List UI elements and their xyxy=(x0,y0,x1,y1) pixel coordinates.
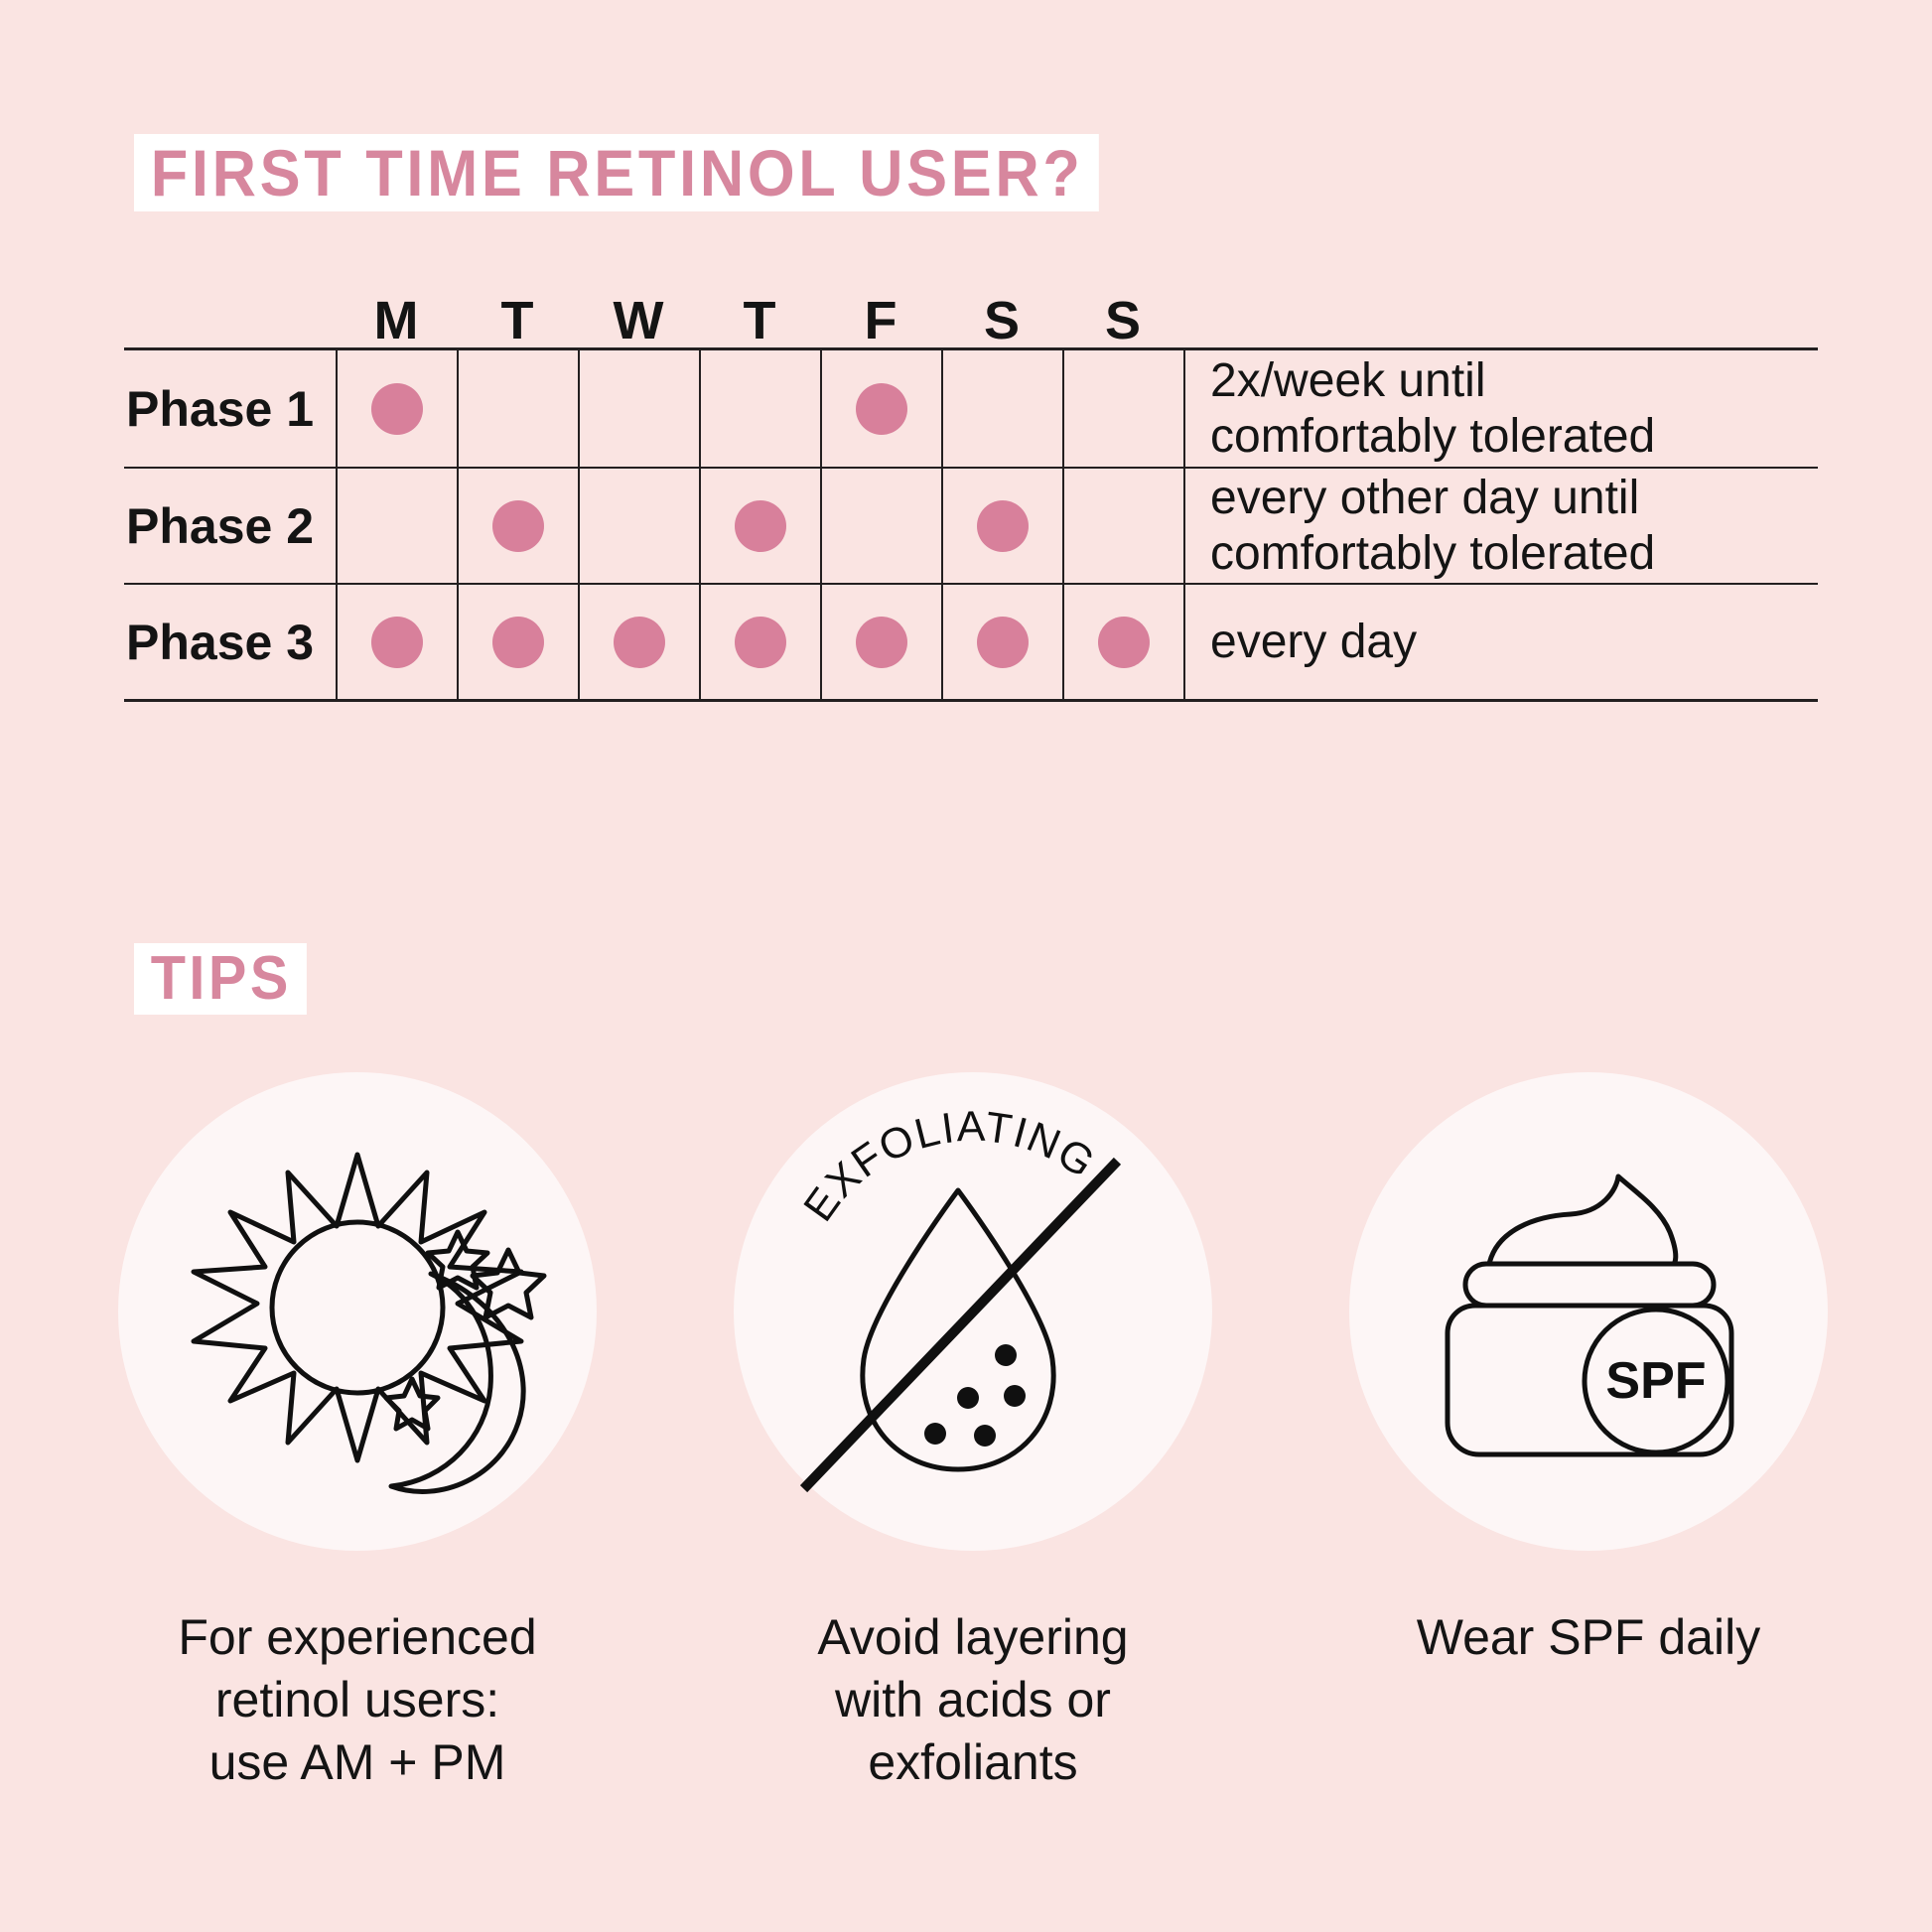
phase-description-line: comfortably tolerated xyxy=(1210,409,1655,465)
prohibition-slash xyxy=(807,1165,1114,1485)
dose-dot-empty xyxy=(856,500,907,552)
cell-phase2-thu xyxy=(699,467,820,583)
tips-heading: TIPS xyxy=(134,943,307,1015)
table-row: Phase 2 every other day until comfortabl… xyxy=(124,467,1818,583)
cell-phase3-wed xyxy=(578,583,699,699)
table-row: Phase 3 every day xyxy=(124,583,1818,699)
dose-dot xyxy=(977,500,1029,552)
day-header-tuesday: T xyxy=(457,294,578,347)
cell-phase2-sat xyxy=(941,467,1062,583)
tip-caption-line: Wear SPF daily xyxy=(1417,1606,1760,1669)
bead xyxy=(995,1344,1017,1366)
day-header-sunday: S xyxy=(1062,294,1183,347)
bead xyxy=(924,1423,946,1445)
cell-phase2-mon xyxy=(336,467,457,583)
phase-label: Phase 3 xyxy=(124,583,336,699)
phase-description-line: every day xyxy=(1210,615,1417,670)
cell-phase3-mon xyxy=(336,583,457,699)
dose-dot xyxy=(371,617,423,668)
table-body: Phase 1 2x/week until comfortably tolera… xyxy=(124,347,1818,702)
phase-description: every day xyxy=(1183,583,1818,699)
sun-moon-stars-icon xyxy=(149,1103,566,1520)
tip-wear-spf: SPF Wear SPF daily xyxy=(1340,1072,1837,1794)
dose-dot-empty xyxy=(614,383,665,435)
no-exfoliating-droplet-icon: EXFOLIATING xyxy=(755,1093,1191,1530)
dose-dot-empty xyxy=(977,383,1029,435)
cell-phase1-wed xyxy=(578,350,699,467)
bead xyxy=(1004,1385,1026,1407)
tip-icon-circle xyxy=(118,1072,597,1551)
dose-dot xyxy=(1098,617,1150,668)
cell-phase2-tue xyxy=(457,467,578,583)
exfoliating-label: EXFOLIATING xyxy=(795,1103,1104,1230)
table-row: Phase 1 2x/week until comfortably tolera… xyxy=(124,350,1818,467)
day-header-saturday: S xyxy=(941,294,1062,347)
cell-phase2-sun xyxy=(1062,467,1183,583)
spf-badge-label: SPF xyxy=(1605,1352,1706,1410)
phase-description: 2x/week until comfortably tolerated xyxy=(1183,350,1818,467)
dose-dot-empty xyxy=(492,383,544,435)
cell-phase1-fri xyxy=(820,350,941,467)
retinol-schedule-table: M T W T F S S Phase 1 2x/week until comf… xyxy=(124,278,1818,702)
phase-description-line: 2x/week until xyxy=(1210,353,1655,409)
tips-section: For experienced retinol users: use AM + … xyxy=(109,1072,1837,1794)
dose-dot-empty xyxy=(614,500,665,552)
dose-dot-empty xyxy=(1098,500,1150,552)
tip-icon-circle: SPF xyxy=(1349,1072,1828,1551)
tip-caption: Wear SPF daily xyxy=(1417,1606,1760,1669)
bead xyxy=(974,1425,996,1447)
tip-am-pm: For experienced retinol users: use AM + … xyxy=(109,1072,606,1794)
exfoliating-label-text: EXFOLIATING xyxy=(795,1103,1104,1230)
dose-dot xyxy=(856,383,907,435)
cell-phase3-sun xyxy=(1062,583,1183,699)
day-header-thursday: T xyxy=(699,294,820,347)
dose-dot-empty xyxy=(371,500,423,552)
tip-caption-line: use AM + PM xyxy=(178,1731,536,1794)
page-title: FIRST TIME RETINOL USER? xyxy=(134,134,1098,211)
tip-caption: For experienced retinol users: use AM + … xyxy=(178,1606,536,1794)
tip-caption-line: Avoid layering xyxy=(817,1606,1128,1669)
cell-phase1-sun xyxy=(1062,350,1183,467)
bead xyxy=(957,1387,979,1409)
day-header-monday: M xyxy=(336,294,457,347)
cell-phase2-wed xyxy=(578,467,699,583)
phase-description-line: comfortably tolerated xyxy=(1210,526,1655,582)
phase-label: Phase 1 xyxy=(124,350,336,467)
phase-label: Phase 2 xyxy=(124,467,336,583)
day-header-wednesday: W xyxy=(578,294,699,347)
dose-dot-empty xyxy=(1098,383,1150,435)
day-header-friday: F xyxy=(820,294,941,347)
dose-dot xyxy=(371,383,423,435)
tip-caption-line: retinol users: xyxy=(178,1669,536,1731)
cell-phase3-thu xyxy=(699,583,820,699)
cell-phase1-mon xyxy=(336,350,457,467)
tip-avoid-acids: EXFOLIATING Avoid layering with acids or… xyxy=(725,1072,1221,1794)
dose-dot xyxy=(735,617,786,668)
phase-description: every other day until comfortably tolera… xyxy=(1183,467,1818,583)
table-day-header-row: M T W T F S S xyxy=(124,278,1818,347)
cell-phase3-sat xyxy=(941,583,1062,699)
dose-dot xyxy=(856,617,907,668)
dose-dot xyxy=(735,500,786,552)
tip-icon-circle: EXFOLIATING xyxy=(734,1072,1212,1551)
dose-dot xyxy=(492,500,544,552)
phase-description-line: every other day until xyxy=(1210,471,1655,526)
dose-dot xyxy=(614,617,665,668)
tip-caption-line: exfoliants xyxy=(817,1731,1128,1794)
tip-caption: Avoid layering with acids or exfoliants xyxy=(817,1606,1128,1794)
dose-dot xyxy=(977,617,1029,668)
cell-phase2-fri xyxy=(820,467,941,583)
dose-dot-empty xyxy=(735,383,786,435)
cell-phase1-thu xyxy=(699,350,820,467)
tip-caption-line: For experienced xyxy=(178,1606,536,1669)
dose-dot xyxy=(492,617,544,668)
cell-phase3-fri xyxy=(820,583,941,699)
cell-phase1-tue xyxy=(457,350,578,467)
tip-caption-line: with acids or xyxy=(817,1669,1128,1731)
spf-cream-jar-icon: SPF xyxy=(1390,1113,1787,1510)
cell-phase3-tue xyxy=(457,583,578,699)
cell-phase1-sat xyxy=(941,350,1062,467)
